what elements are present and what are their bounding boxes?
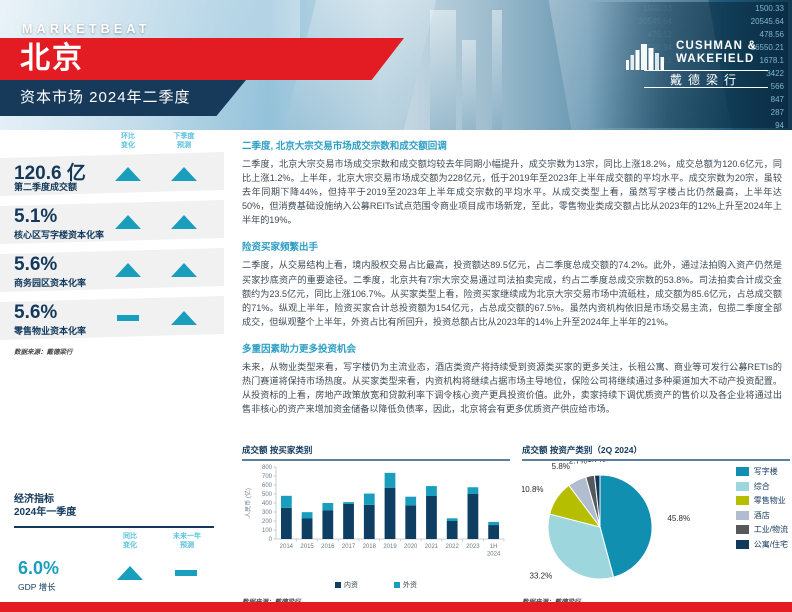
marketbeat-page: 1500.3320545.64476.1216550.941678.1 1500… [0, 0, 792, 612]
stat-change-indicator [108, 248, 148, 292]
stats-col-header-change: 环比 变化 [108, 133, 148, 150]
legend-item-domestic: 内资 [335, 580, 358, 590]
econ-col-header-change: 同比 变化 [110, 533, 150, 550]
bar-chart-legend: 内资 外资 [242, 580, 510, 590]
article-section: 险资买家频繁出手 二季度，从交易结构上看，境内股权交易占比最高，投资额达89.5… [242, 239, 782, 328]
pie-legend-item: 工业/物流 [736, 524, 788, 535]
bar-chart-canvas: 0100200300400500600700800人民币 (亿)20142015… [242, 461, 510, 573]
econ-label: GDP 增长 [18, 581, 56, 593]
header-decor-shape-2 [430, 10, 456, 130]
header-decor-bar-1 [462, 40, 476, 130]
pie-legend-item: 零售物业 [736, 495, 788, 506]
left-stats-column: 环比 变化 下季度 预测 120.6 亿 第二季度成交额 5.1% 核心区写字楼… [0, 130, 228, 612]
pie-legend-swatch [736, 467, 749, 476]
pie-slice-percent: 45.8% [667, 514, 690, 523]
svg-text:300: 300 [262, 510, 273, 516]
econ-change-indicator [110, 558, 150, 588]
flat-dash-icon [175, 570, 197, 576]
pie-legend-label: 公寓/住宅 [754, 539, 788, 550]
pie-legend-label: 零售物业 [754, 495, 786, 506]
econ-panel-divider [14, 526, 214, 528]
legend-swatch [335, 582, 341, 588]
svg-text:2022: 2022 [446, 544, 460, 550]
pie-chart-panel: 成交额 按资产类别（2Q 2024） 45.8%33.2%10.8%5.8%2.… [522, 444, 790, 606]
marketbeat-eyebrow: MARKETBEAT [22, 22, 151, 36]
ticker-value: 94 [588, 119, 784, 130]
stat-row: 5.6% 商务园区资本化率 [0, 248, 224, 292]
svg-text:2023: 2023 [466, 544, 480, 550]
legend-item-foreign: 外资 [394, 580, 417, 590]
stat-row: 5.1% 核心区写字楼资本化率 [0, 200, 224, 244]
legend-label: 外资 [403, 580, 417, 590]
svg-text:200: 200 [262, 519, 273, 525]
logo-line-1: CUSHMAN & [676, 40, 757, 53]
section-paragraph: 未来，从物业类型来看，写字楼仍为主流业态，酒店类资产将持续受到资源类买家的更多关… [242, 360, 782, 416]
stat-forecast-indicator [164, 296, 204, 340]
logo-buildings-icon [626, 42, 670, 70]
ticker-value: 20545.64 [588, 15, 784, 28]
header-decor-bar-2 [492, 10, 502, 130]
econ-title-line-2: 2024年一季度 [14, 506, 76, 519]
bar-chart-title: 成交额 按买家类别 [242, 444, 510, 456]
stat-change-indicator [108, 200, 148, 244]
econ-forecast-indicator [166, 558, 206, 588]
stat-label: 零售物业资本化率 [14, 324, 86, 337]
stat-forecast-indicator [164, 152, 204, 196]
triangle-up-icon [171, 263, 197, 277]
pie-legend-swatch [736, 540, 749, 549]
logo-wordmark: CUSHMAN & WAKEFIELD [676, 40, 757, 66]
svg-text:800: 800 [262, 465, 273, 471]
section-paragraph: 二季度，北京大宗交易市场成交宗数和成交额均较去年同期小幅提升，成交宗数为13宗，… [242, 157, 782, 227]
section-paragraph: 二季度，从交易结构上看，境内股权交易占比最高，投资额达89.5亿元，占二季度总成… [242, 258, 782, 328]
stat-label: 商务园区资本化率 [14, 276, 86, 289]
svg-text:2015: 2015 [300, 544, 314, 550]
svg-text:600: 600 [262, 483, 273, 489]
footer-red-bar [0, 602, 792, 612]
pie-legend-item: 写字楼 [736, 466, 788, 477]
pie-slice-percent: 5.8% [552, 462, 570, 471]
stats-col-header-forecast: 下季度 预测 [164, 133, 204, 150]
pie-slice-percent: 1.7% [587, 461, 605, 464]
svg-text:2014: 2014 [280, 544, 294, 550]
triangle-up-icon [171, 311, 197, 325]
ticker-value: 847 [588, 93, 784, 106]
stat-row: 5.6% 零售物业资本化率 [0, 296, 224, 340]
legend-label: 内资 [344, 580, 358, 590]
stat-label: 第二季度成交额 [14, 180, 77, 193]
triangle-up-icon [115, 263, 141, 277]
triangle-up-icon [115, 167, 141, 181]
pie-slice-percent: 33.2% [530, 571, 553, 580]
stat-label: 核心区写字楼资本化率 [14, 228, 104, 241]
econ-title-line-1: 经济指标 [14, 493, 76, 506]
pie-legend-label: 酒店 [754, 510, 770, 521]
pie-legend-swatch [736, 496, 749, 505]
pie-legend-label: 综合 [754, 481, 770, 492]
pie-chart-legend: 写字楼综合零售物业酒店工业/物流公寓/住宅 [736, 466, 788, 553]
svg-text:1H: 1H [490, 544, 498, 550]
svg-text:2021: 2021 [425, 544, 439, 550]
svg-text:700: 700 [262, 474, 273, 480]
econ-value: 6.0% [18, 558, 59, 579]
triangle-up-icon [171, 215, 197, 229]
article-section: 二季度, 北京大宗交易市场成交宗数和成交额回调 二季度，北京大宗交易市场成交宗数… [242, 138, 782, 227]
cushman-wakefield-logo: CUSHMAN & WAKEFIELD 戴德梁行 [626, 36, 778, 92]
pie-legend-swatch [736, 511, 749, 520]
pie-chart-title: 成交额 按资产类别（2Q 2024） [522, 444, 790, 456]
article-section: 多重因素助力更多投资机会 未来，从物业类型来看，写字楼仍为主流业态，酒店类资产将… [242, 341, 782, 416]
svg-text:2018: 2018 [363, 544, 377, 550]
pie-legend-label: 写字楼 [754, 466, 778, 477]
stat-forecast-indicator [164, 200, 204, 244]
svg-text:0: 0 [269, 537, 273, 543]
svg-text:人民币 (亿): 人民币 (亿) [244, 488, 252, 518]
svg-text:2020: 2020 [404, 544, 418, 550]
stat-row: 120.6 亿 第二季度成交额 [0, 152, 224, 196]
pie-chart-canvas: 45.8%33.2%10.8%5.8%2.7%1.7% [522, 461, 712, 589]
section-heading: 二季度, 北京大宗交易市场成交宗数和成交额回调 [242, 138, 782, 152]
logo-chinese-name: 戴德梁行 [644, 70, 768, 88]
flat-dash-icon [117, 315, 139, 321]
pie-slice-percent: 10.8% [522, 485, 544, 494]
stat-value: 5.6% [14, 254, 57, 276]
triangle-up-icon [171, 167, 197, 181]
econ-panel-title: 经济指标 2024年一季度 [14, 493, 76, 519]
svg-text:2024: 2024 [487, 551, 501, 557]
bar-chart-panel: 成交额 按买家类别 0100200300400500600700800人民币 (… [242, 444, 510, 606]
stat-change-indicator [108, 152, 148, 196]
pie-legend-swatch [736, 482, 749, 491]
pie-legend-item: 酒店 [736, 510, 788, 521]
pie-legend-label: 工业/物流 [754, 524, 788, 535]
legend-swatch [394, 582, 400, 588]
triangle-up-icon [117, 566, 143, 580]
pie-legend-swatch [736, 525, 749, 534]
svg-text:500: 500 [262, 492, 273, 498]
svg-text:2016: 2016 [321, 544, 335, 550]
page-header: 1500.3320545.64476.1216550.941678.1 1500… [0, 0, 792, 130]
svg-text:2019: 2019 [383, 544, 397, 550]
pie-slice-percent: 2.7% [569, 461, 587, 465]
ticker-value: 287 [588, 106, 784, 119]
svg-text:100: 100 [262, 528, 273, 534]
triangle-up-icon [115, 215, 141, 229]
section-heading: 险资买家频繁出手 [242, 239, 782, 253]
stat-change-indicator [108, 296, 148, 340]
svg-text:400: 400 [262, 501, 273, 507]
stat-value: 5.1% [14, 206, 57, 228]
svg-text:2017: 2017 [342, 544, 356, 550]
logo-line-2: WAKEFIELD [676, 53, 757, 66]
page-subtitle: 资本市场 2024年二季度 [20, 86, 191, 107]
pie-legend-item: 综合 [736, 481, 788, 492]
econ-col-header-forecast: 未来一年 预测 [162, 533, 212, 550]
page-title: 北京 [20, 41, 84, 77]
stat-forecast-indicator [164, 248, 204, 292]
article-body: 二季度, 北京大宗交易市场成交宗数和成交额回调 二季度，北京大宗交易市场成交宗数… [242, 138, 782, 428]
stats-source-note: 数据来源：戴德梁行 [14, 346, 73, 356]
stat-value: 5.6% [14, 302, 57, 324]
ticker-value: 1500.33 [588, 2, 784, 15]
section-heading: 多重因素助力更多投资机会 [242, 341, 782, 355]
pie-legend-item: 公寓/住宅 [736, 539, 788, 550]
